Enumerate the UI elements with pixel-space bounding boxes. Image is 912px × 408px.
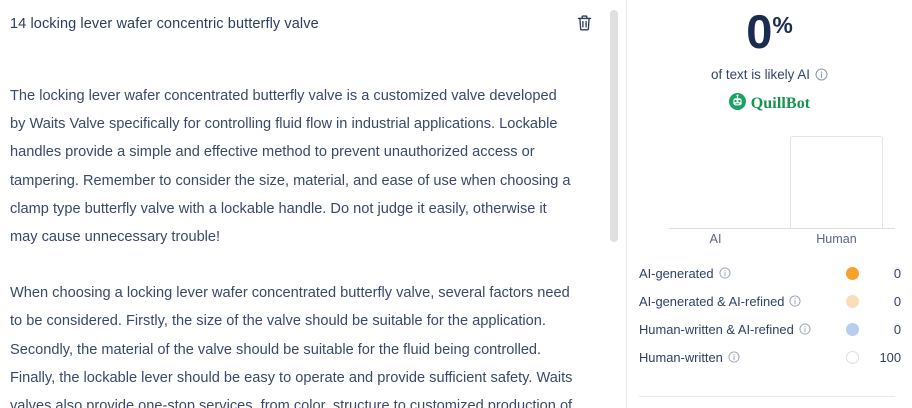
quillbot-brand-name: QuillBot: [751, 95, 810, 113]
legend-value: 0: [873, 322, 901, 337]
ai-score-value: 0 %: [627, 6, 912, 58]
legend-row-ai-generated-ai-refined: AI-generated & AI-refined 0: [639, 287, 901, 315]
chart-plot-area: [669, 129, 895, 229]
ai-score-block: 0 % of text is likely AI: [627, 0, 912, 115]
legend-label-text: Human-written: [639, 350, 723, 365]
chart-tick-labels: AI Human: [669, 232, 895, 250]
bar-human: [790, 136, 883, 229]
ai-score-number: 0: [746, 6, 771, 58]
legend-label: AI-generated & AI-refined: [639, 294, 846, 309]
info-icon[interactable]: [815, 68, 828, 81]
info-icon[interactable]: [728, 351, 740, 363]
legend-label: AI-generated: [639, 266, 846, 281]
chart-tick-label-human: Human: [790, 232, 883, 246]
info-icon[interactable]: [719, 267, 731, 279]
document-paragraph: When choosing a locking lever wafer conc…: [10, 279, 576, 408]
legend-label: Human-written & AI-refined: [639, 322, 846, 337]
legend-value: 100: [873, 350, 901, 365]
detection-legend: AI-generated 0 AI-generated & AI-refined: [639, 259, 901, 371]
ai-detector-panel: 0 % of text is likely AI: [627, 0, 912, 408]
legend-color-swatch: [846, 323, 859, 336]
trash-icon: [576, 14, 593, 35]
document-title-row: 14 locking lever wafer concentric butter…: [0, 0, 627, 48]
legend-row-human-written: Human-written 100: [639, 343, 901, 371]
info-icon[interactable]: [789, 295, 801, 307]
editor-scrollbar[interactable]: [610, 0, 618, 408]
legend-color-swatch: [846, 351, 859, 364]
panel-divider: [639, 396, 895, 397]
quillbot-brand: QuillBot: [627, 93, 912, 115]
ai-detector-screen: 14 locking lever wafer concentric butter…: [0, 0, 912, 408]
legend-label-text: AI-generated & AI-refined: [639, 294, 784, 309]
legend-value: 0: [873, 294, 901, 309]
legend-row-ai-generated: AI-generated 0: [639, 259, 901, 287]
legend-row-human-written-ai-refined: Human-written & AI-refined 0: [639, 315, 901, 343]
legend-value: 0: [873, 266, 901, 281]
legend-label-text: AI-generated: [639, 266, 714, 281]
ai-score-caption-text: of text is likely AI: [711, 67, 810, 82]
ai-score-caption: of text is likely AI: [627, 67, 912, 82]
page-title: 14 locking lever wafer concentric butter…: [10, 14, 573, 34]
editor-pane: 14 locking lever wafer concentric butter…: [0, 0, 627, 408]
document-paragraph: The locking lever wafer concentrated but…: [10, 82, 576, 251]
document-body[interactable]: The locking lever wafer concentrated but…: [0, 48, 612, 408]
delete-document-button[interactable]: [573, 13, 595, 35]
scrollbar-thumb[interactable]: [610, 10, 618, 242]
legend-color-swatch: [846, 295, 859, 308]
info-icon[interactable]: [799, 323, 811, 335]
chart-axis-line: [669, 228, 895, 229]
quillbot-robot-icon: [729, 93, 746, 115]
ai-score-percent-sign: %: [772, 10, 792, 40]
ai-human-bar-chart: AI Human: [669, 129, 895, 245]
legend-color-swatch: [846, 267, 859, 280]
legend-label: Human-written: [639, 350, 846, 365]
chart-tick-label-ai: AI: [669, 232, 762, 246]
legend-label-text: Human-written & AI-refined: [639, 322, 794, 337]
